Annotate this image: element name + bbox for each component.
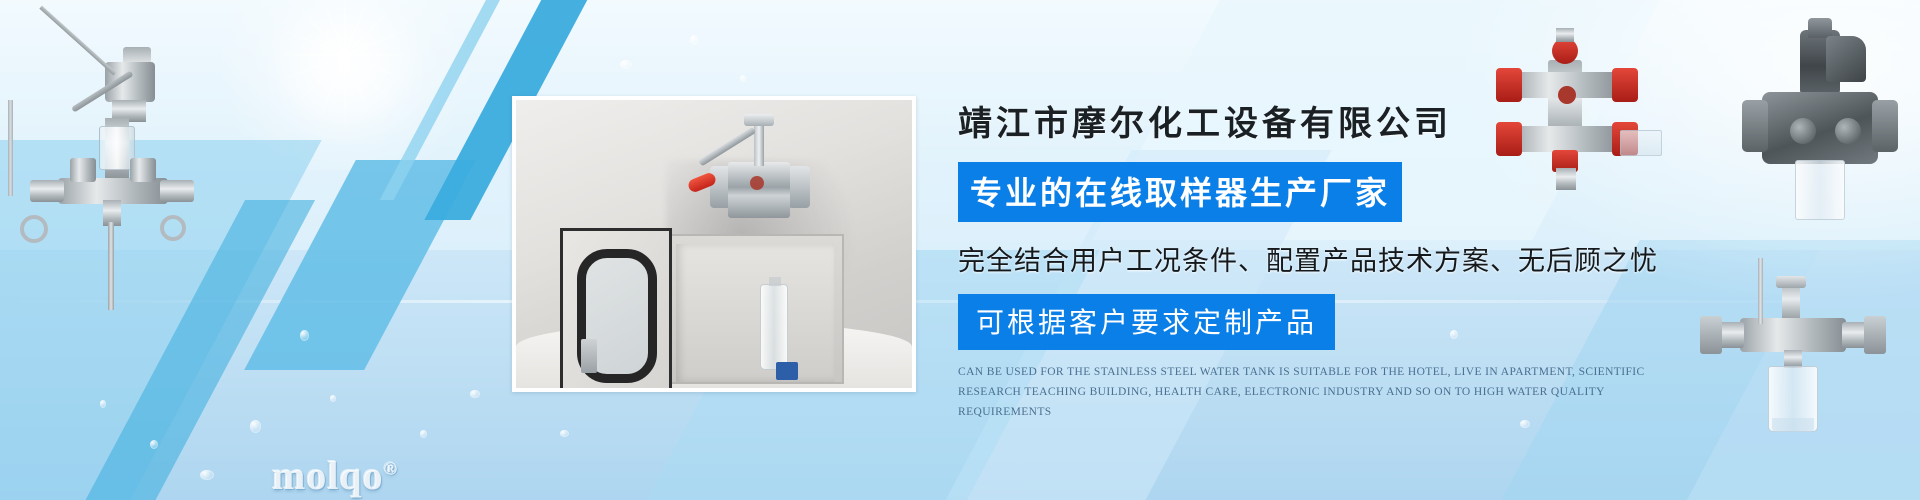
water-droplet [560,430,569,437]
water-droplet [250,420,261,433]
cta-highlight: 可根据客户要求定制产品 [958,294,1335,350]
water-droplet [740,75,746,82]
water-droplet [690,35,698,45]
english-description: CAN BE USED FOR THE STAINLESS STEEL WATE… [958,362,1700,422]
online-sampler-cabinet-photo [512,96,916,392]
subheadline: 完全结合用户工况条件、配置产品技术方案、无后顾之忧 [958,239,1718,278]
watermark-text: molqo [272,453,384,498]
water-droplet [100,400,106,408]
water-droplet [420,430,427,438]
photo-valve-assembly [706,114,816,236]
registered-mark-icon: ® [384,459,398,479]
headline-highlight: 专业的在线取样器生产厂家 [958,162,1402,222]
water-droplet [620,60,632,69]
brand-watermark: molqo® [272,452,398,499]
banner-text-block: 靖江市摩尔化工设备有限公司 专业的在线取样器生产厂家 完全结合用户工况条件、配置… [958,96,1718,422]
water-droplet [200,470,214,480]
water-droplet [150,440,158,449]
promotional-banner: 靖江市摩尔化工设备有限公司 专业的在线取样器生产厂家 完全结合用户工况条件、配置… [0,0,1920,500]
water-droplet [330,395,336,402]
water-droplet [300,330,309,341]
water-droplet [470,390,480,398]
company-name: 靖江市摩尔化工设备有限公司 [958,96,1718,145]
